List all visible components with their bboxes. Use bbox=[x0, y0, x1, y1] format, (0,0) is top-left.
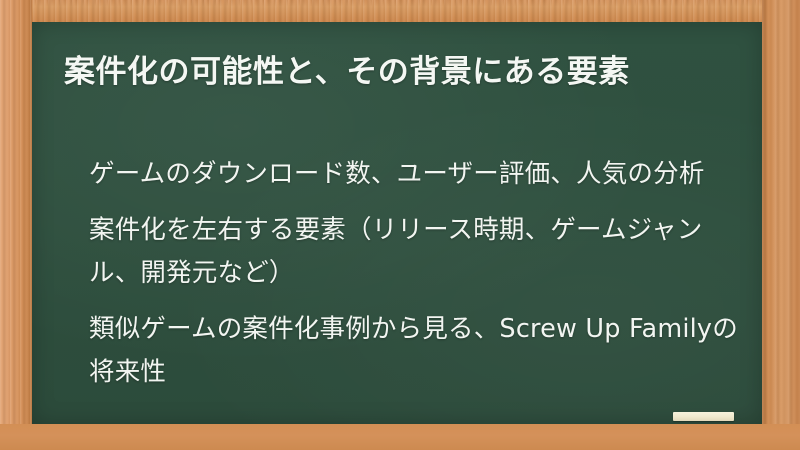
slide-title: 案件化の可能性と、その背景にある要素 bbox=[64, 51, 744, 94]
bullet-item-3: 類似ゲームの案件化事例から見る、Screw Up Familyの将来性 bbox=[89, 308, 749, 394]
chalk-stick-icon bbox=[673, 412, 734, 421]
frame-bottom-ledge bbox=[0, 424, 800, 450]
frame-right-rail bbox=[762, 0, 800, 450]
chalkboard-slide: 案件化の可能性と、その背景にある要素 ゲームのダウンロード数、ユーザー評価、人気… bbox=[0, 0, 800, 450]
chalkboard-surface: 案件化の可能性と、その背景にある要素 ゲームのダウンロード数、ユーザー評価、人気… bbox=[32, 22, 762, 424]
frame-left-rail bbox=[0, 0, 32, 450]
bullet-item-1: ゲームのダウンロード数、ユーザー評価、人気の分析 bbox=[89, 153, 749, 196]
bullet-item-2: 案件化を左右する要素（リリース時期、ゲームジャンル、開発元など） bbox=[89, 209, 749, 295]
frame-top-rail bbox=[0, 0, 800, 22]
slide-bullet-list: ゲームのダウンロード数、ユーザー評価、人気の分析 案件化を左右する要素（リリース… bbox=[89, 153, 749, 394]
